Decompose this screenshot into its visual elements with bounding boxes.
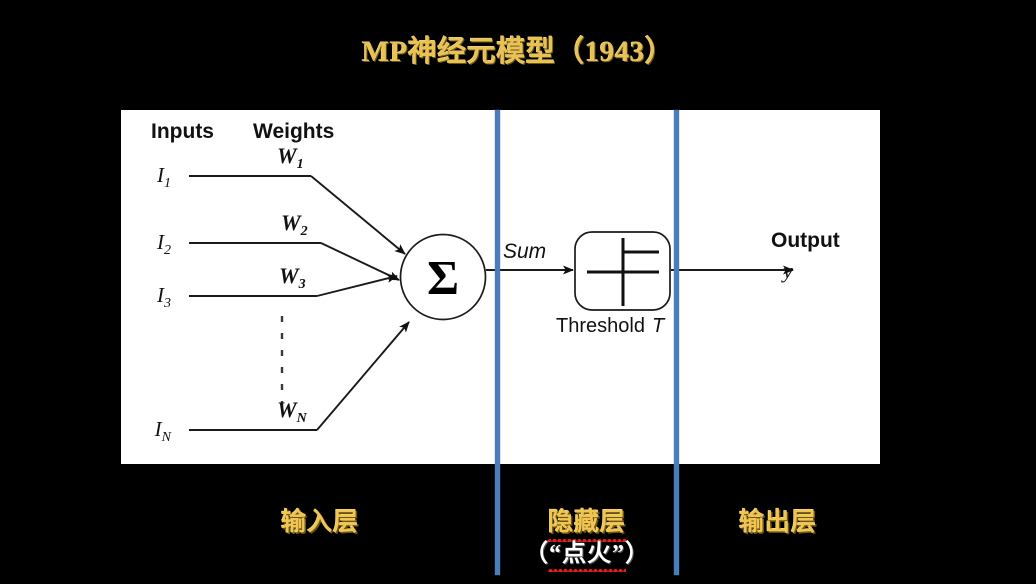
inputs-header: Inputs [151,120,214,143]
divider-input-hidden [495,110,500,575]
input-label-n: IN [154,417,172,445]
weight-arrows [311,176,409,430]
slide-canvas: MP神经元模型（1943） Σ [0,0,1036,584]
layer-label-output: 输出层 [698,502,858,538]
weights-header: Weights [253,120,334,143]
output-label: Output [771,229,840,252]
note-open-paren: （ [524,541,549,567]
weight-label-1: W1 [277,143,304,172]
threshold-label: ThresholdT [556,315,666,337]
input-label-3: I3 [156,283,171,311]
note-inner-text: “点火” [549,533,625,568]
input-label-1: I1 [156,163,171,191]
input-label-2: I2 [156,230,171,258]
mp-neuron-diagram: Σ Inputs Weights I1 I2 I3 [121,110,880,464]
divider-hidden-output [674,110,679,575]
sum-label: Sum [503,240,546,263]
layer-label-input: 输入层 [240,502,400,538]
weight-label-3: W3 [279,263,306,292]
weight-label-2: W2 [281,210,308,239]
note-close-paren: ） [625,541,650,567]
output-symbol: y [781,258,793,283]
input-lines [189,176,321,430]
page-title: MP神经元模型（1943） [0,28,1036,70]
summation-symbol: Σ [427,250,459,305]
layer-label-hidden-note: （“点火”） [497,533,677,568]
weight-label-n: WN [277,397,308,426]
